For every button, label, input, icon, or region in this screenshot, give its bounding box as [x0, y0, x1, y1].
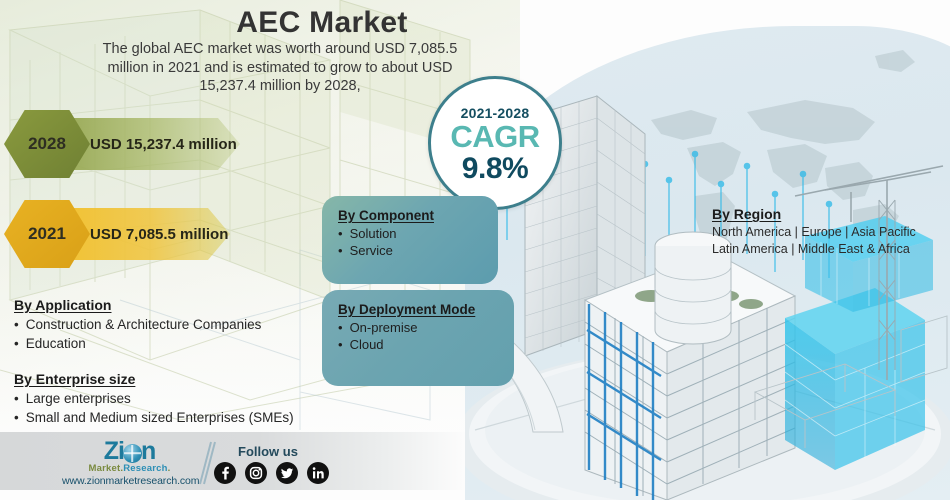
badge-2021: 2021 USD 7,085.5 million: [4, 200, 234, 268]
follow-us-label: Follow us: [238, 444, 298, 459]
segment-region-line-2: Latin America | Middle East & Africa: [712, 241, 948, 258]
badge-2028: 2028 USD 15,237.4 million: [4, 110, 244, 178]
cagr-label: CAGR: [450, 121, 539, 153]
cagr-badge: 2021-2028 CAGR 9.8%: [428, 76, 562, 210]
list-item: Cloud: [338, 336, 500, 353]
badge-2028-value: USD 15,237.4 million: [84, 118, 237, 170]
instagram-icon[interactable]: [245, 462, 267, 484]
list-item: Solution: [338, 225, 484, 242]
segment-enterprise-heading: By Enterprise size: [14, 371, 135, 387]
facebook-icon[interactable]: [214, 462, 236, 484]
logo-subtitle: Market.Research.: [62, 463, 197, 474]
list-item: Construction & Architecture Companies: [14, 315, 314, 334]
segment-card-component: By Component Solution Service: [322, 196, 498, 284]
list-item: Service: [338, 242, 484, 259]
badge-2021-year: 2021: [4, 200, 90, 268]
segment-deployment-list: On-premise Cloud: [338, 319, 500, 353]
logo-subtitle-research: Research: [123, 463, 167, 474]
segment-block-region: By Region North America | Europe | Asia …: [712, 206, 948, 257]
segment-block-application: By Application Construction & Architectu…: [14, 297, 314, 353]
segment-enterprise-list: Large enterprises Small and Medium sized…: [14, 389, 344, 427]
segment-deployment-heading: By Deployment Mode: [338, 302, 500, 317]
page-subtitle: The global AEC market was worth around U…: [100, 40, 460, 96]
brand-logo[interactable]: Zi n Market.Research. www.zionmarketrese…: [62, 438, 197, 487]
logo-word-part-1: Zi: [104, 438, 124, 464]
segment-component-list: Solution Service: [338, 225, 484, 259]
logo-subtitle-market: Market: [89, 463, 121, 474]
list-item: On-premise: [338, 319, 500, 336]
infographic-canvas: AEC Market The global AEC market was wor…: [0, 0, 950, 500]
social-links: [214, 462, 329, 484]
globe-icon: [123, 444, 142, 463]
segment-application-heading: By Application: [14, 297, 112, 313]
divider-slash: [196, 440, 216, 486]
badge-2028-year: 2028: [4, 110, 90, 178]
logo-word-part-2: n: [141, 438, 155, 464]
list-item: Large enterprises: [14, 389, 344, 408]
linkedin-icon[interactable]: [307, 462, 329, 484]
twitter-icon[interactable]: [276, 462, 298, 484]
segment-component-heading: By Component: [338, 208, 484, 223]
website-url[interactable]: www.zionmarketresearch.com: [62, 475, 197, 487]
logo-wordmark: Zi n: [62, 438, 197, 464]
page-title: AEC Market: [172, 6, 472, 40]
segment-block-enterprise: By Enterprise size Large enterprises Sma…: [14, 371, 344, 427]
badge-2021-value: USD 7,085.5 million: [84, 208, 228, 260]
segment-card-deployment: By Deployment Mode On-premise Cloud: [322, 290, 514, 386]
cagr-value: 9.8%: [462, 153, 528, 184]
segment-region-line-1: North America | Europe | Asia Pacific: [712, 224, 948, 241]
list-item: Education: [14, 334, 314, 353]
segment-application-list: Construction & Architecture Companies Ed…: [14, 315, 314, 353]
segment-region-heading: By Region: [712, 206, 781, 222]
list-item: Small and Medium sized Enterprises (SMEs…: [14, 408, 344, 427]
